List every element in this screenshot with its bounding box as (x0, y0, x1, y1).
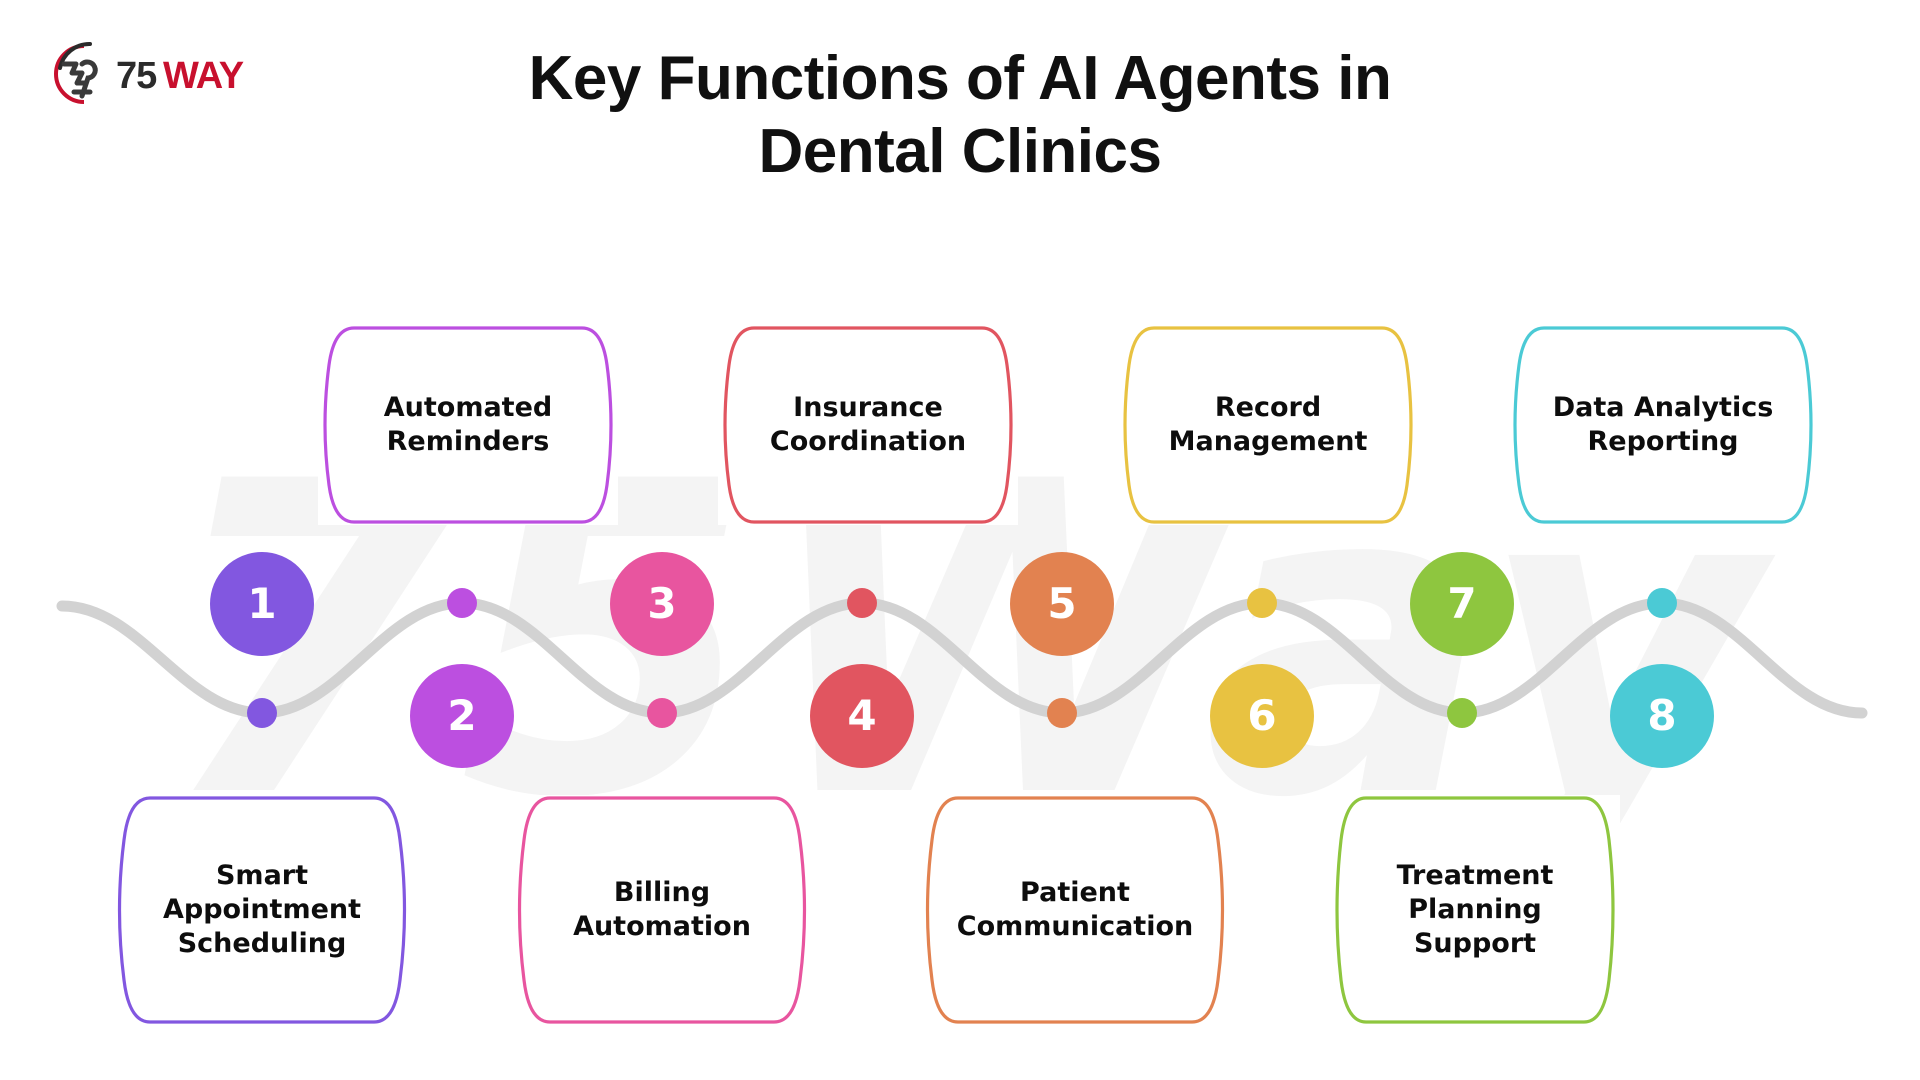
step-number: 7 (1447, 583, 1476, 625)
card-top-0[interactable]: Automated Reminders (318, 325, 618, 525)
step-node-6[interactable]: 6 (1210, 664, 1314, 768)
card-label: Treatment Planning Support (1379, 859, 1572, 961)
card-bottom-3[interactable]: Treatment Planning Support (1330, 795, 1620, 1025)
step-node-8[interactable]: 8 (1610, 664, 1714, 768)
wave-dot-8 (1647, 588, 1677, 618)
infographic-canvas: 75Way 75 WAY Key Functions of AI Agents … (0, 0, 1920, 1080)
card-label: Data Analytics Reporting (1535, 391, 1792, 459)
step-node-3[interactable]: 3 (610, 552, 714, 656)
card-top-2[interactable]: Record Management (1118, 325, 1418, 525)
page-title: Key Functions of AI Agents in Dental Cli… (460, 42, 1460, 188)
card-bottom-1[interactable]: Billing Automation (512, 795, 812, 1025)
step-number: 3 (647, 583, 676, 625)
card-label: Insurance Coordination (752, 391, 984, 459)
step-number: 6 (1247, 695, 1276, 737)
wave-dot-2 (447, 588, 477, 618)
step-node-2[interactable]: 2 (410, 664, 514, 768)
card-top-3[interactable]: Data Analytics Reporting (1508, 325, 1818, 525)
card-label: Patient Communication (939, 876, 1212, 944)
step-number: 2 (447, 695, 476, 737)
card-bottom-0[interactable]: Smart Appointment Scheduling (112, 795, 412, 1025)
wave-dot-4 (847, 588, 877, 618)
step-number: 5 (1047, 583, 1076, 625)
75way-logo-icon: 75 WAY (38, 38, 253, 110)
card-label: Record Management (1151, 391, 1386, 459)
wave-dot-7 (1447, 698, 1477, 728)
brand-logo: 75 WAY (38, 38, 253, 110)
card-label: Smart Appointment Scheduling (145, 859, 379, 961)
step-node-1[interactable]: 1 (210, 552, 314, 656)
step-node-7[interactable]: 7 (1410, 552, 1514, 656)
card-label: Automated Reminders (366, 391, 570, 459)
step-node-4[interactable]: 4 (810, 664, 914, 768)
wave-dot-3 (647, 698, 677, 728)
card-label: Billing Automation (555, 876, 769, 944)
step-number: 8 (1647, 695, 1676, 737)
logo-way-text: WAY (163, 55, 244, 97)
step-number: 4 (847, 695, 876, 737)
card-bottom-2[interactable]: Patient Communication (920, 795, 1230, 1025)
step-node-5[interactable]: 5 (1010, 552, 1114, 656)
wave-dot-1 (247, 698, 277, 728)
step-number: 1 (247, 583, 276, 625)
card-top-1[interactable]: Insurance Coordination (718, 325, 1018, 525)
logo-75-text: 75 (116, 55, 157, 97)
wave-dot-5 (1047, 698, 1077, 728)
wave-dot-6 (1247, 588, 1277, 618)
